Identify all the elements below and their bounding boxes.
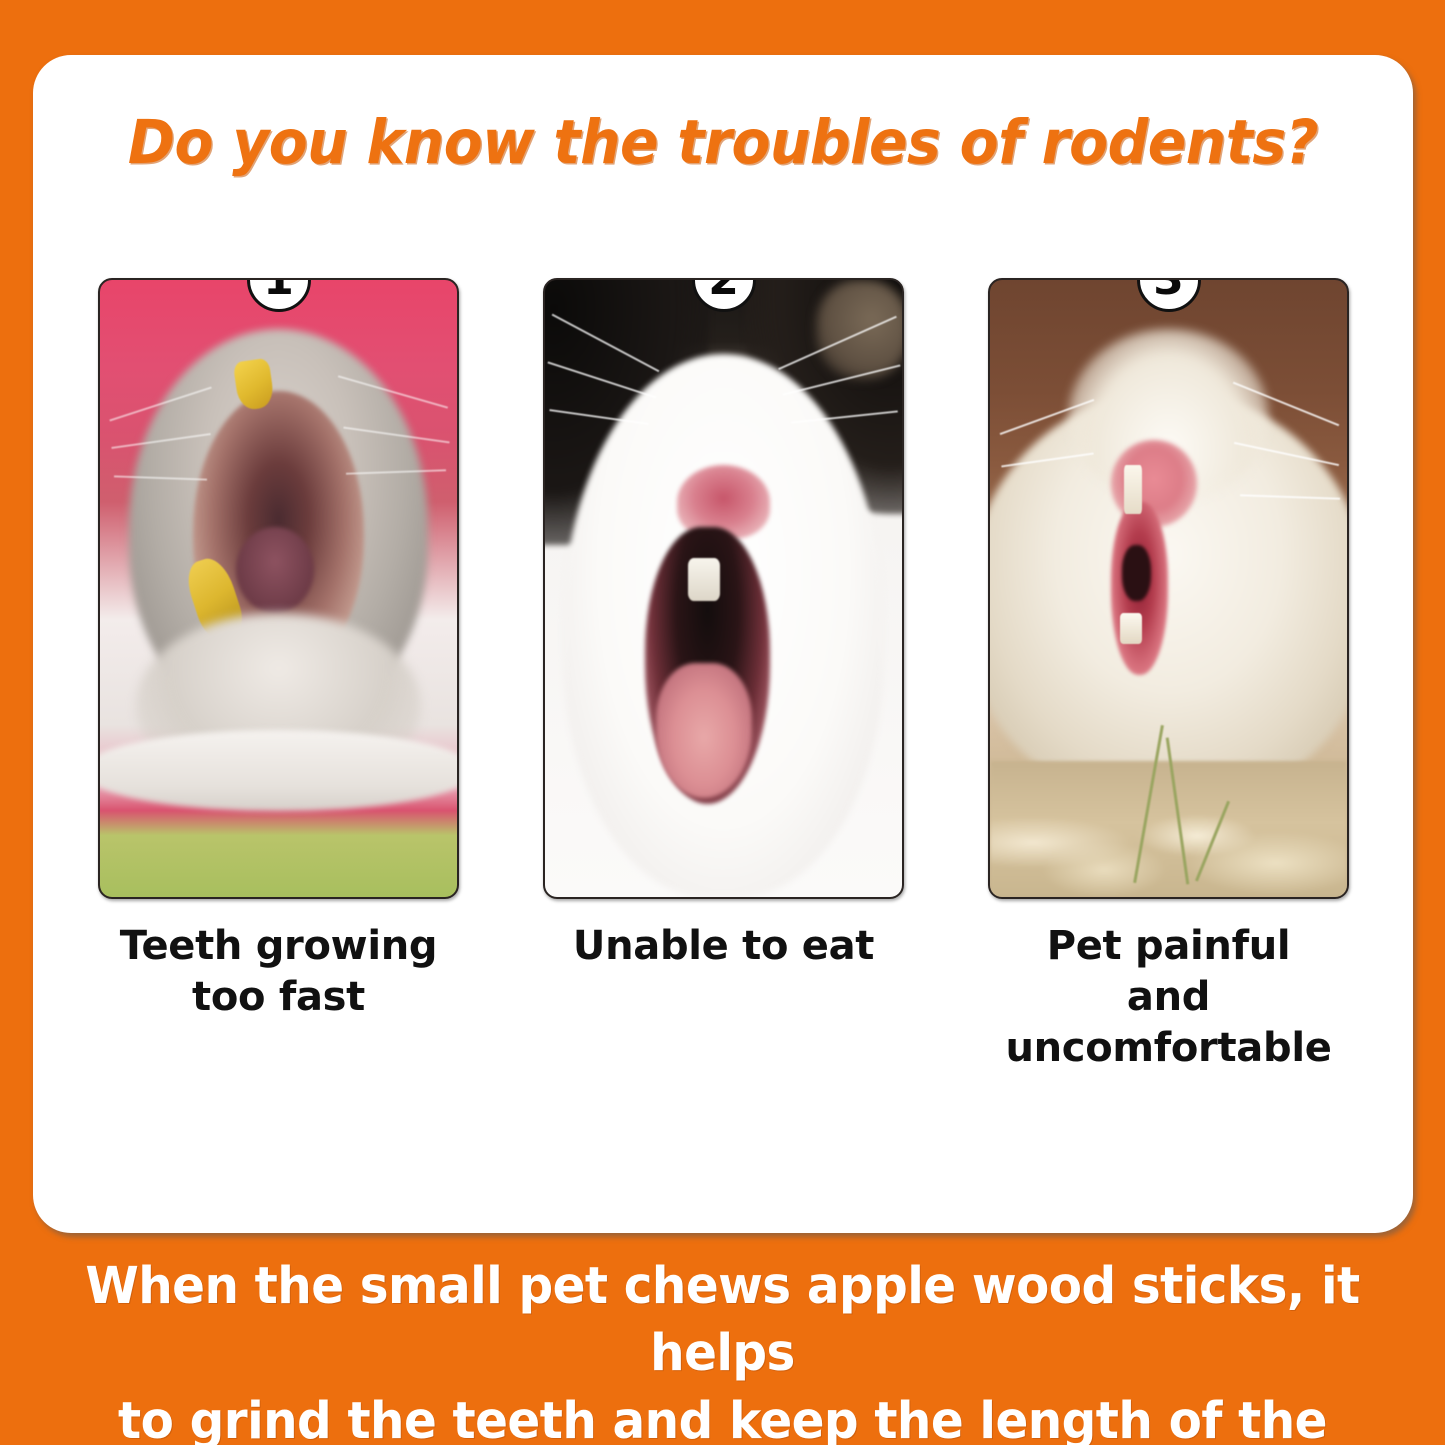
banner-line-2: to grind the teeth and keep the length o… <box>53 1388 1392 1445</box>
trouble-panel-1: 1 Teeth growing too <box>97 278 460 1075</box>
page-title: Do you know the troubles of rodents? <box>81 107 1364 178</box>
trouble-panel-3: 3 <box>987 278 1350 1075</box>
mouth-interior <box>1122 545 1151 601</box>
panel-badge-1: 1 <box>247 278 311 312</box>
brown-background-patch <box>816 280 904 379</box>
banner-line-1: When the small pet chews apple wood stic… <box>53 1253 1392 1388</box>
caption-line: and <box>969 972 1369 1023</box>
upper-incisor <box>1124 465 1142 514</box>
panel-badge-3: 3 <box>1137 278 1201 312</box>
wood-shaving-bedding <box>990 761 1347 897</box>
photo-pet-painful-and-uncomfortable: 3 <box>988 278 1349 899</box>
caption-line: Teeth growing <box>79 921 479 972</box>
front-teeth <box>688 558 720 601</box>
caption-line: Unable to eat <box>524 921 924 972</box>
panel-caption-2: Unable to eat <box>524 921 924 972</box>
bottom-banner: When the small pet chews apple wood stic… <box>36 1253 1409 1445</box>
caption-line: Pet painful <box>969 921 1369 972</box>
photo-teeth-growing-too-fast: 1 <box>98 278 459 899</box>
blanket-shape <box>98 730 459 810</box>
caption-line: uncomfortable <box>969 1023 1369 1074</box>
lower-incisor <box>1120 613 1141 644</box>
caption-line: too fast <box>79 972 479 1023</box>
content-card: Do you know the troubles of rodents? 1 <box>33 55 1413 1233</box>
tongue-shape <box>656 663 752 799</box>
tongue-shape <box>236 527 315 613</box>
panel-caption-1: Teeth growing too fast <box>79 921 479 1023</box>
panel-caption-3: Pet painful and uncomfortable <box>969 921 1369 1075</box>
photo-unable-to-eat: 2 <box>543 278 904 899</box>
promo-poster: Do you know the troubles of rodents? 1 <box>0 0 1445 1445</box>
trouble-panel-2: 2 Unable to eat <box>542 278 905 1075</box>
trouble-panels: 1 Teeth growing too <box>97 278 1350 1075</box>
